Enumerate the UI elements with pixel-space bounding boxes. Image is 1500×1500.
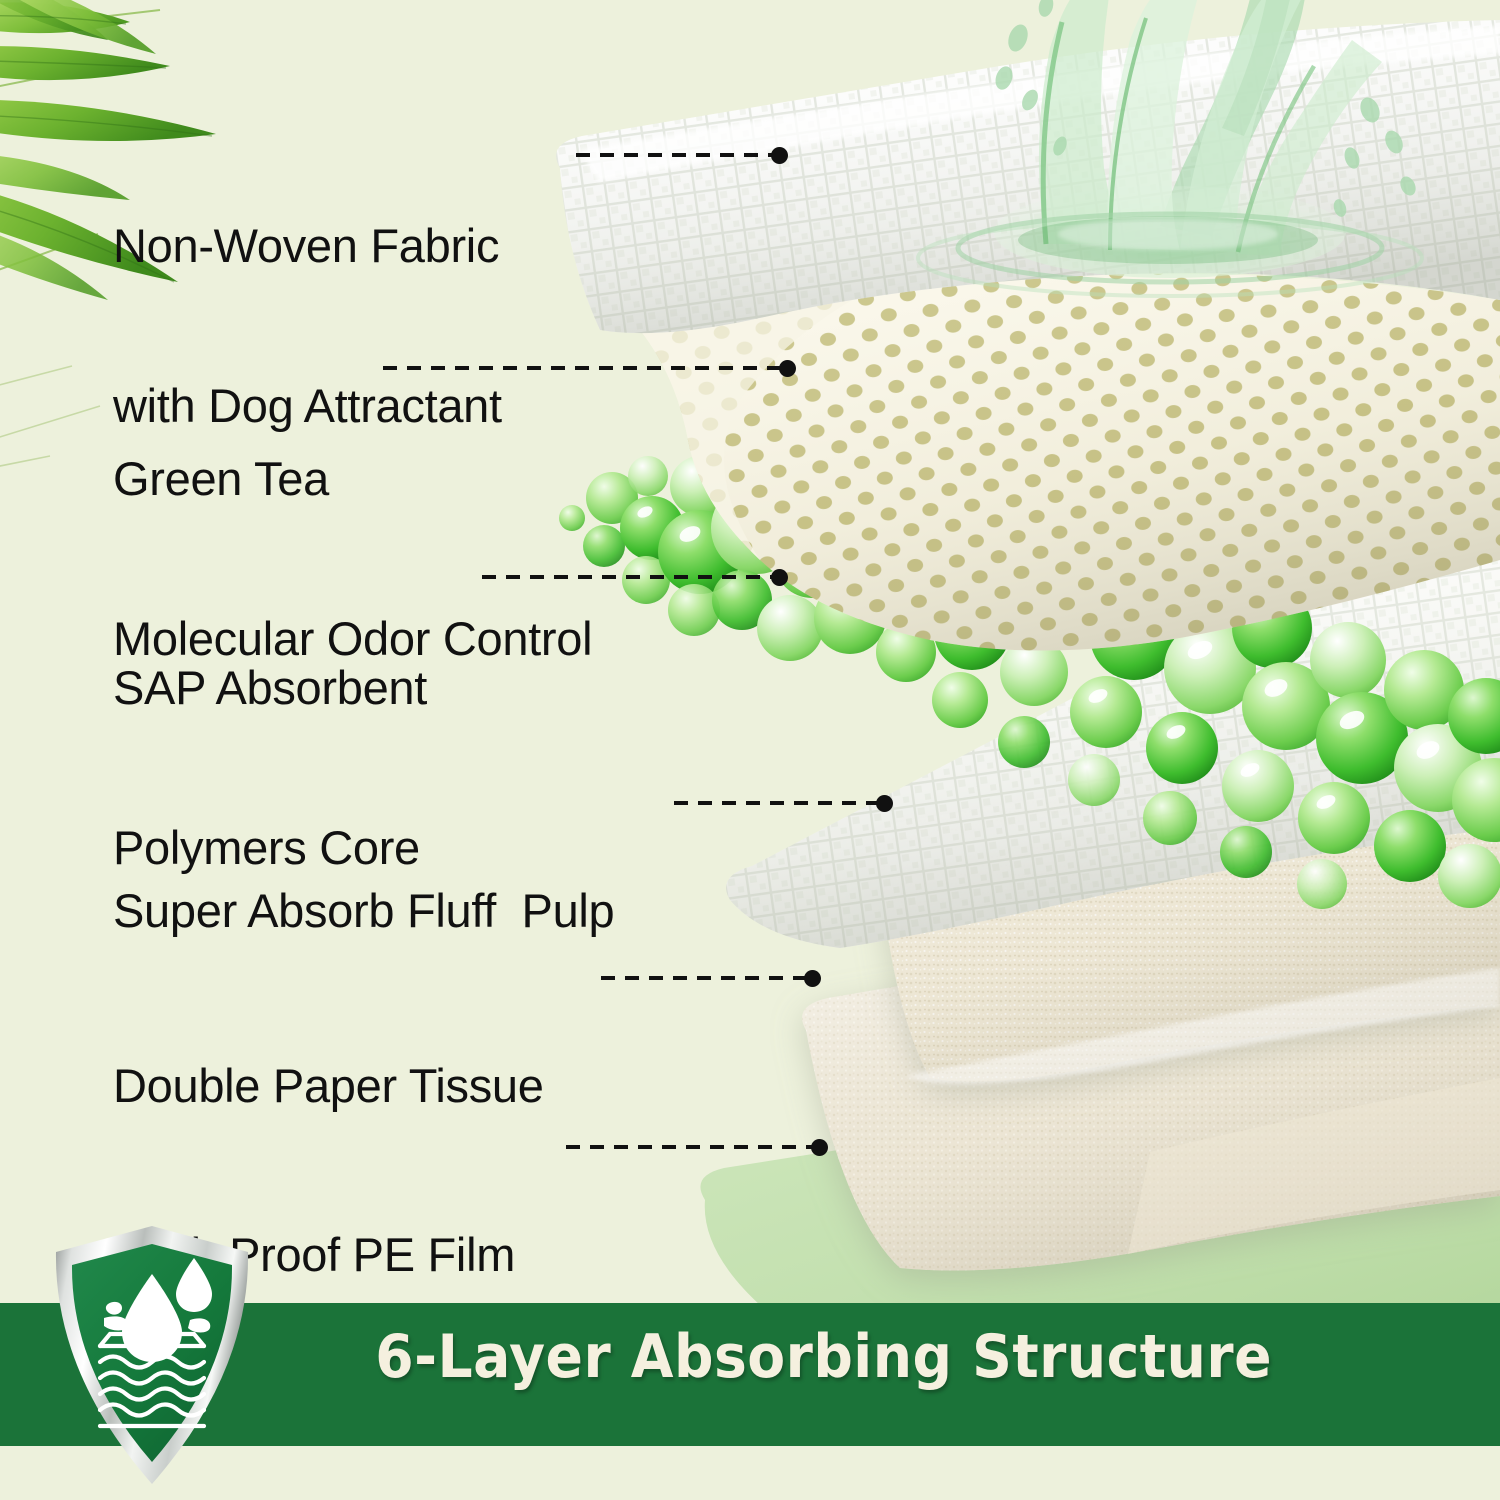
- label-green-tea-line1: Green Tea: [113, 452, 592, 505]
- label-paper-tissue-line1: Double Paper Tissue: [113, 1060, 544, 1113]
- label-sap-core-line1: SAP Absorbent: [113, 661, 427, 714]
- leader-dot-green-tea: [779, 360, 796, 377]
- infographic-root: Non-Woven Fabric with Dog Attractant Gre…: [0, 0, 1500, 1500]
- label-non-woven-fabric-line1: Non-Woven Fabric: [113, 219, 502, 272]
- leader-dot-sap-core: [771, 569, 788, 586]
- leader-dot-pe-film: [811, 1139, 828, 1156]
- leader-line-pe-film: [566, 1145, 814, 1149]
- leader-dot-fluff-pulp: [876, 795, 893, 812]
- leader-dot-non-woven-fabric: [771, 147, 788, 164]
- leader-line-fluff-pulp: [674, 801, 879, 805]
- leader-dot-paper-tissue: [804, 970, 821, 987]
- leader-line-green-tea: [383, 366, 783, 370]
- label-fluff-pulp-line1: Super Absorb Fluff Pulp: [113, 885, 614, 938]
- banner-title: 6-Layer Absorbing Structure: [60, 1322, 1440, 1392]
- leader-line-non-woven-fabric: [576, 153, 774, 157]
- leader-line-paper-tissue: [601, 976, 807, 980]
- leader-line-sap-core: [482, 575, 774, 579]
